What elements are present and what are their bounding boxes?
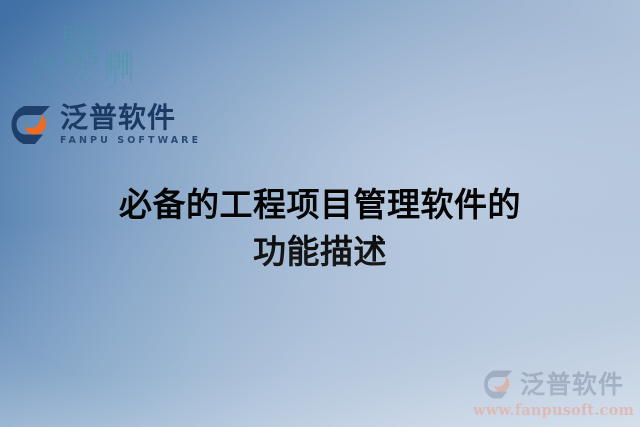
watermark-logo-row: 泛普软件: [483, 369, 624, 400]
page-title-line-2: 功能描述: [46, 229, 594, 276]
page-title: 必备的工程项目管理软件的 功能描述: [0, 182, 640, 276]
watermark-name-cn: 泛普软件: [520, 372, 624, 397]
brand-name-cn: 泛普软件: [60, 104, 201, 133]
pixel-building-pattern-icon: [34, 8, 144, 106]
brand-logo: 泛普软件 FANPU SOFTWARE: [10, 104, 201, 146]
fanpu-logo-mark-icon: [10, 104, 52, 146]
page-title-line-1: 必备的工程项目管理软件的: [46, 182, 594, 229]
brand-wordmark: 泛普软件 FANPU SOFTWARE: [60, 104, 201, 145]
slide-canvas: 泛普软件 FANPU SOFTWARE 必备的工程项目管理软件的 功能描述 泛普…: [0, 0, 640, 427]
watermark: 泛普软件 www.fanpusoft.com: [473, 369, 634, 419]
fanpu-logo-mark-watermark-icon: [483, 369, 514, 400]
watermark-url: www.fanpusoft.com: [473, 402, 634, 419]
brand-name-en: FANPU SOFTWARE: [60, 136, 201, 146]
